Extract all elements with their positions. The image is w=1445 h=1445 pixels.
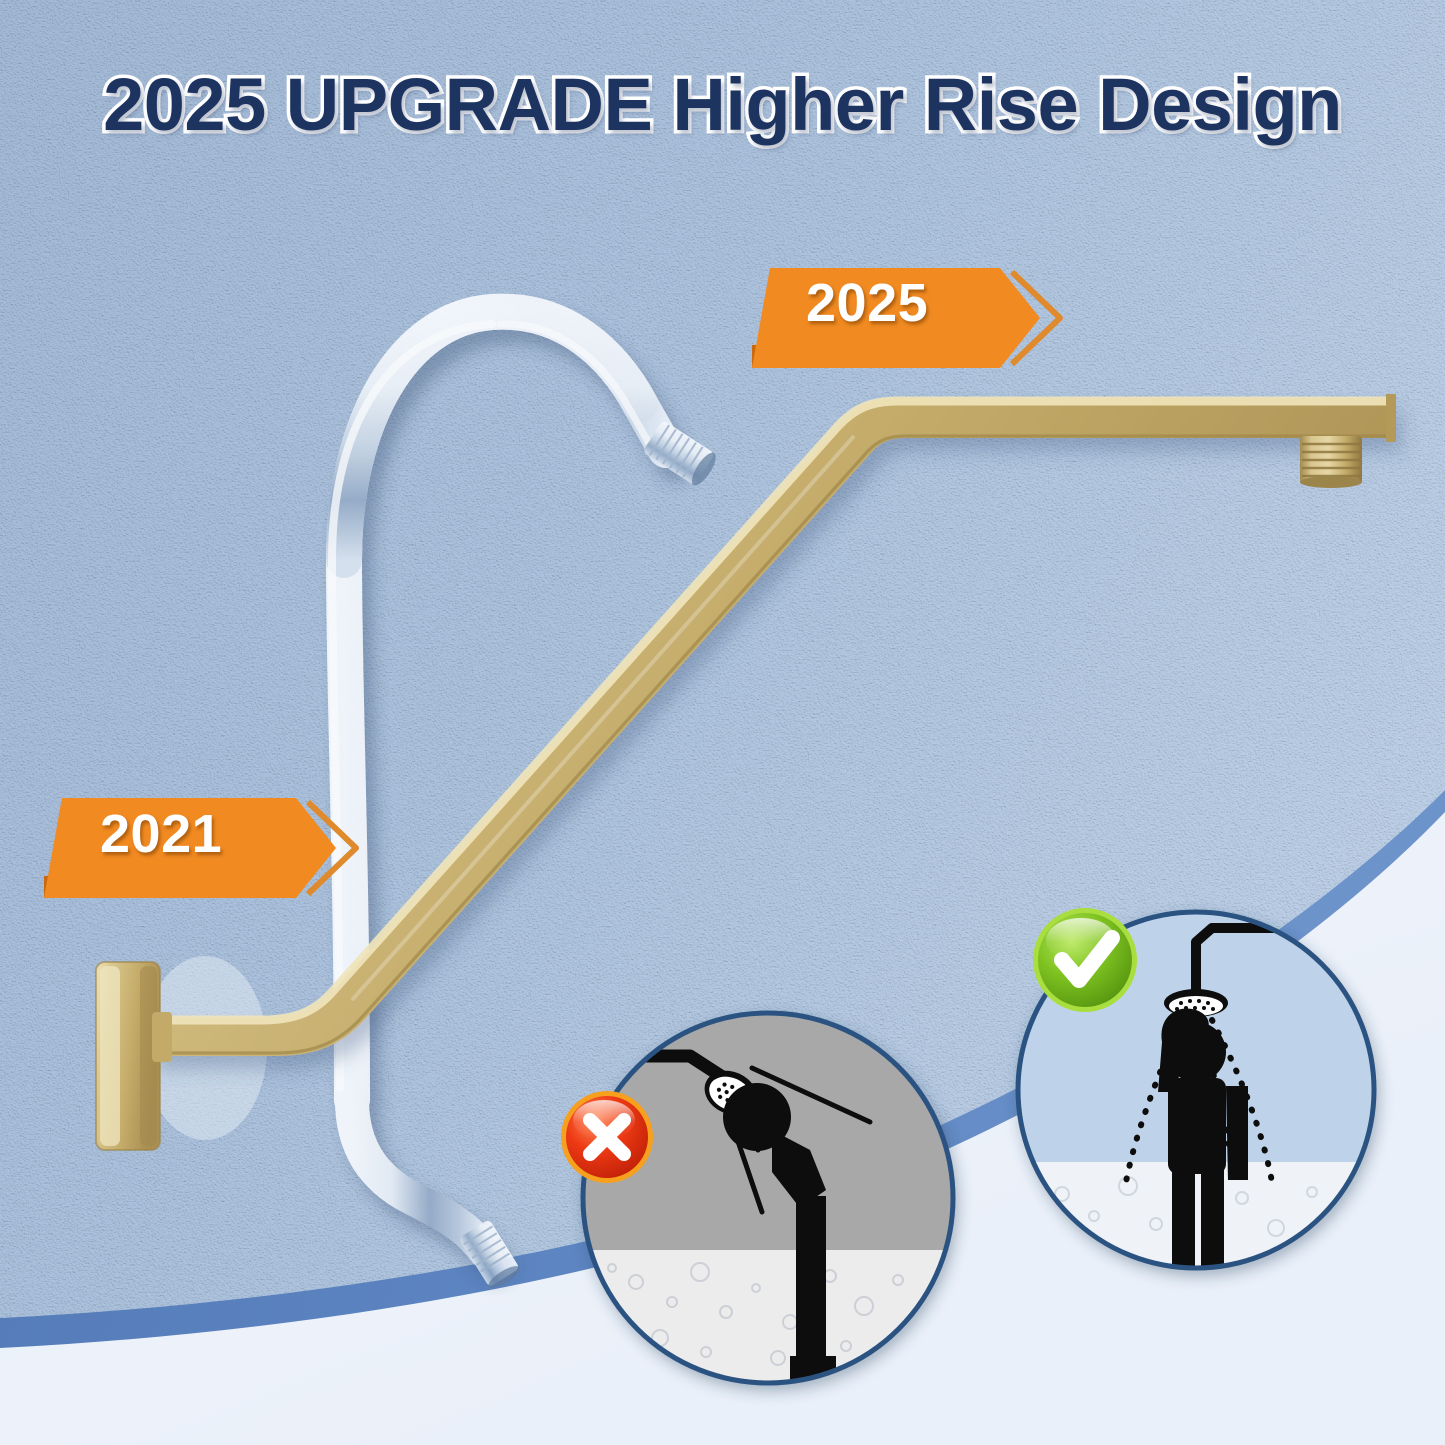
inset-bad-floor xyxy=(583,1250,953,1383)
cross-badge[interactable] xyxy=(561,1091,653,1183)
inset-layer xyxy=(0,0,1445,1445)
inset-bad[interactable] xyxy=(583,1013,953,1383)
infographic-canvas: 2025 UPGRADE Higher Rise Design 2025 202… xyxy=(0,0,1445,1445)
check-badge[interactable] xyxy=(1033,908,1137,1012)
